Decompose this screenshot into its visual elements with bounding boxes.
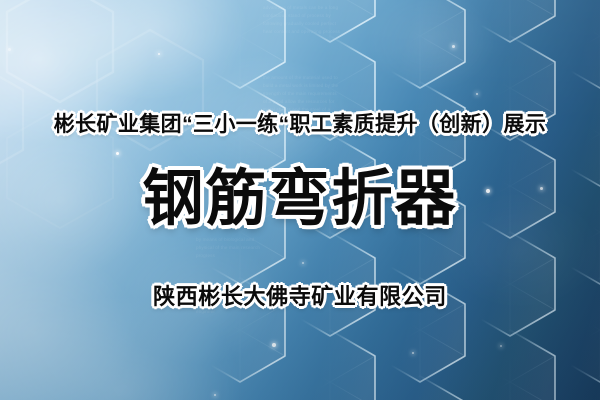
slide-company-name-text: 陕西彬长大佛寺矿业有限公司 <box>153 284 447 309</box>
slide-subtitle: 彬长矿业集团“三小一练“职工素质提升（创新）展示 <box>0 108 600 138</box>
slide-text-group: 彬长矿业集团“三小一练“职工素质提升（创新）展示 钢筋弯折器 陕西彬长大佛寺矿业… <box>0 0 600 400</box>
presentation-slide: advantage of metals can be a long contin… <box>0 0 600 400</box>
slide-subtitle-text: 彬长矿业集团“三小一练“职工素质提升（创新）展示 <box>54 113 547 136</box>
slide-main-title: 钢筋弯折器 <box>0 166 600 232</box>
slide-main-title-text: 钢筋弯折器 <box>142 164 457 232</box>
slide-company-name: 陕西彬长大佛寺矿业有限公司 <box>0 279 600 311</box>
